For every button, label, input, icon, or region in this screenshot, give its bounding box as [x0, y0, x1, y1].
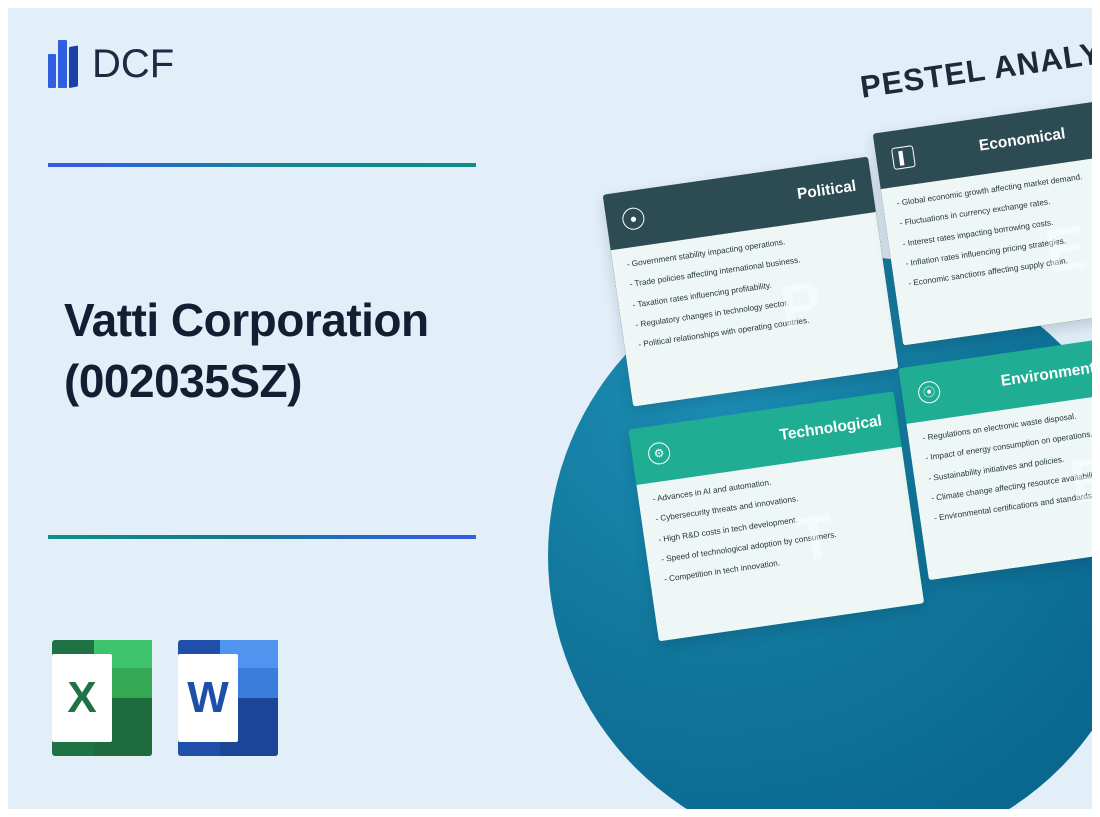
leaf-circle-icon: ⦿	[917, 380, 942, 405]
dcf-bars-logo-icon	[48, 40, 82, 88]
page-title-line-1: Vatti Corporation	[64, 290, 534, 351]
pestel-card-political[interactable]: ● Political - Government stability impac…	[603, 157, 899, 407]
divider-top	[48, 163, 476, 167]
person-badge-icon: ●	[621, 206, 646, 231]
pestel-card-economical[interactable]: ▌ Economical - Global economic growth af…	[873, 95, 1092, 346]
card-title-environment: Environment	[939, 351, 1092, 400]
excel-letter: X	[52, 654, 112, 742]
pestel-heading: PESTEL ANALYSIS	[858, 28, 1092, 106]
attachment-icons: X W	[52, 640, 278, 756]
pestel-artwork: PESTEL ANALYSIS ● Political - Government…	[516, 8, 1092, 809]
brand-name: DCF	[92, 42, 174, 87]
word-file-icon[interactable]: W	[178, 640, 278, 756]
bar-chart-icon: ▌	[891, 145, 916, 170]
pestel-card-grid: ● Political - Government stability impac…	[592, 83, 1092, 669]
pestel-card-environment[interactable]: ⦿ Environment - Regulations on electroni…	[898, 330, 1092, 581]
card-title-economical: Economical	[913, 116, 1092, 165]
divider-bottom	[48, 535, 476, 539]
brand-logo: DCF	[48, 40, 174, 88]
pestel-card-technological[interactable]: ⚙ Technological - Advances in AI and aut…	[628, 391, 924, 641]
word-letter: W	[178, 654, 238, 742]
excel-file-icon[interactable]: X	[52, 640, 152, 756]
page-title-line-2: (002035SZ)	[64, 351, 534, 412]
gear-icon: ⚙	[647, 441, 672, 466]
page-title: Vatti Corporation (002035SZ)	[64, 290, 534, 411]
poster-page: DCF Vatti Corporation (002035SZ) X W PES…	[8, 8, 1092, 809]
